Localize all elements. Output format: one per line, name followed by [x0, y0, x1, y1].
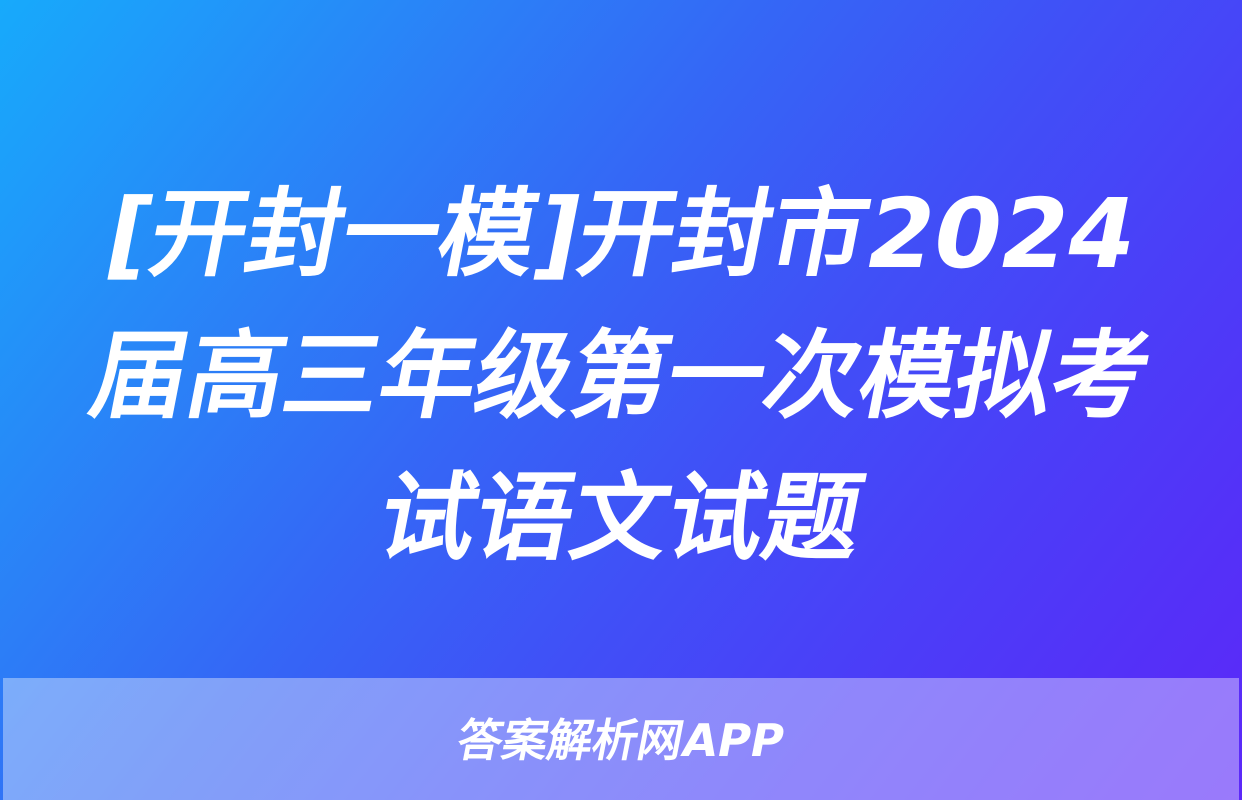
exam-poster: [开封一模]开封市2024 届高三年级第一次模拟考 试语文试题 答案解析网APP	[0, 0, 1242, 800]
title-line-3: 试语文试题	[372, 470, 871, 566]
title-line-1: [开封一模]开封市2024	[98, 186, 1144, 282]
watermark-band: 答案解析网APP	[3, 678, 1239, 800]
poster-title: [开封一模]开封市2024 届高三年级第一次模拟考 试语文试题	[0, 186, 1242, 566]
title-line-2: 届高三年级第一次模拟考	[84, 328, 1159, 424]
watermark-label: 答案解析网APP	[454, 718, 789, 763]
